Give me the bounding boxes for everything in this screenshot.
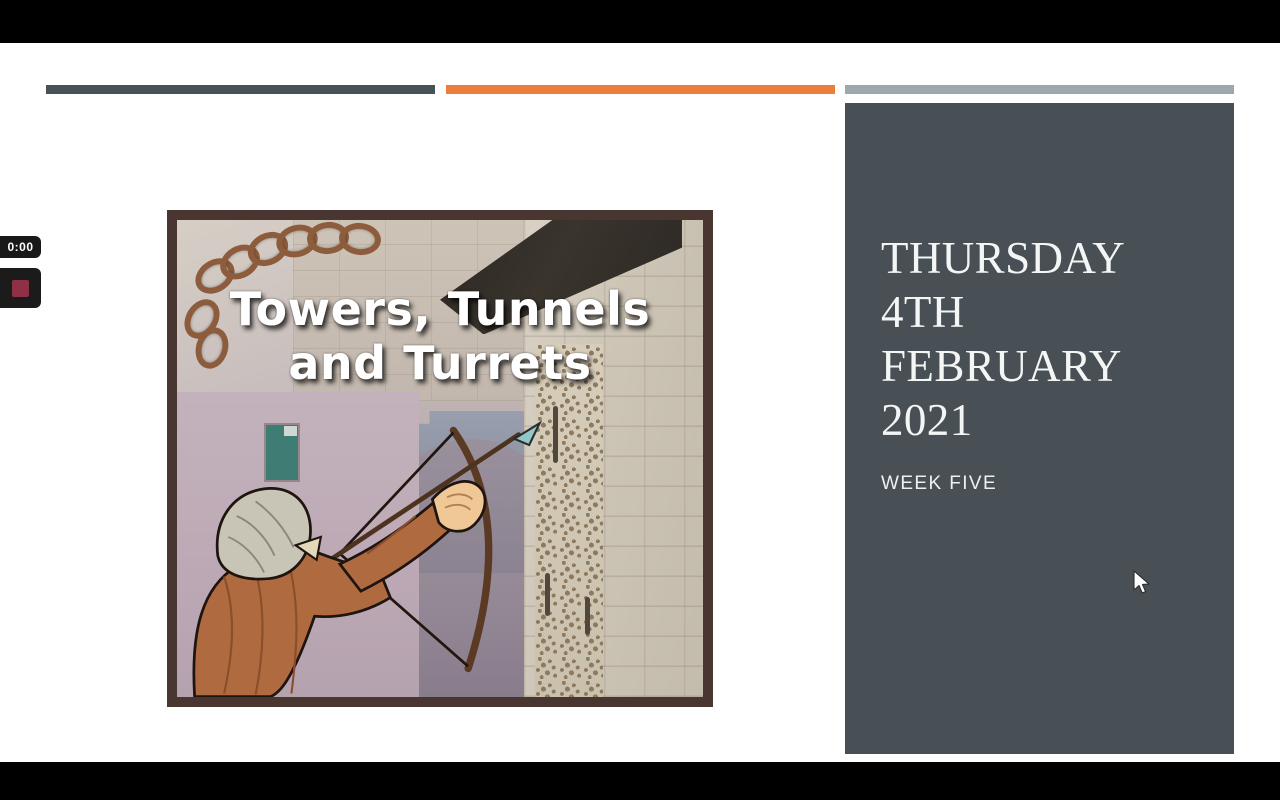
recording-timer: 0:00 <box>0 236 41 258</box>
letterbox-bottom <box>0 762 1280 800</box>
accent-bar-orange <box>446 85 835 94</box>
screen-recorder-widget[interactable]: 0:00 <box>0 236 41 308</box>
slide-canvas: Towers, Tunnels and Turrets THURSDAY 4TH… <box>0 43 1280 762</box>
date-panel-content: THURSDAY 4TH FEBRUARY 2021 WEEK FIVE <box>881 231 1206 495</box>
stop-square-icon <box>12 280 29 297</box>
stop-recording-button[interactable] <box>0 268 41 308</box>
photo-archer-illustration <box>182 420 561 697</box>
accent-bar-dark <box>46 85 435 94</box>
accent-bar-grey <box>845 85 1234 94</box>
date-panel: THURSDAY 4TH FEBRUARY 2021 WEEK FIVE <box>845 103 1234 754</box>
slide-title: THURSDAY 4TH FEBRUARY 2021 <box>881 231 1206 447</box>
photo-chain <box>188 225 504 387</box>
letterbox-top <box>0 0 1280 43</box>
photo-arrow-slit <box>585 597 590 635</box>
slide-subtitle: WEEK FIVE <box>881 473 1206 495</box>
slide-image[interactable]: Towers, Tunnels and Turrets <box>167 210 713 707</box>
image-canvas: Towers, Tunnels and Turrets <box>177 220 703 697</box>
